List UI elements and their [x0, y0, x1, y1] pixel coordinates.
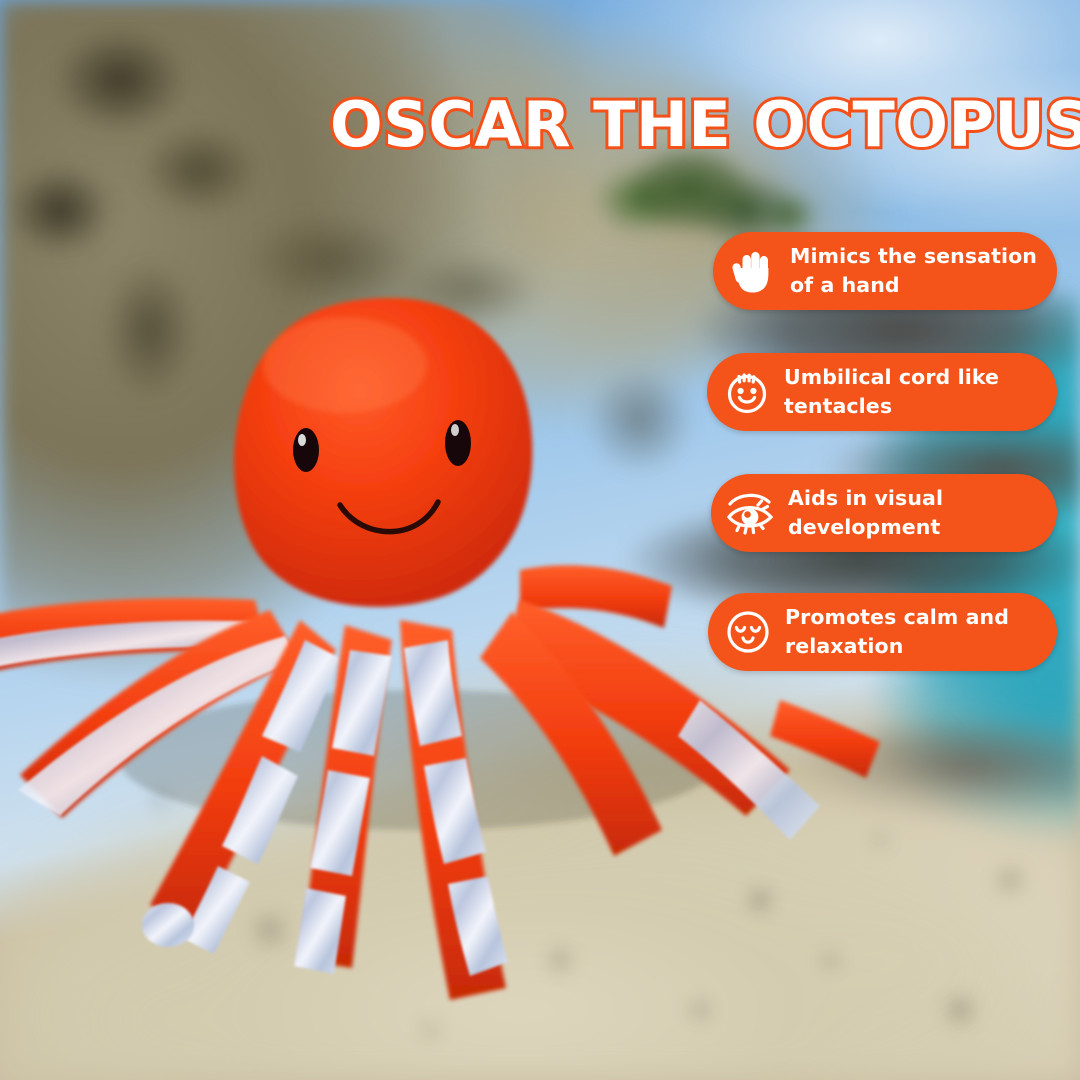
feature-badge-hand-label: Mimics the sensation of a hand: [790, 242, 1037, 300]
feature-line-1: Umbilical cord like: [784, 365, 999, 389]
feature-line-2: development: [788, 513, 943, 542]
feature-badge-calm-label: Promotes calm and relaxation: [785, 603, 1009, 661]
feature-line-1: Mimics the sensation: [790, 244, 1037, 268]
calm-face-icon: [719, 603, 777, 661]
feature-badge-hand[interactable]: Mimics the sensation of a hand: [713, 232, 1057, 310]
feature-badge-visual-label: Aids in visual development: [788, 484, 943, 542]
feature-badge-list: Mimics the sensation of a hand: [0, 0, 1080, 1080]
baby-face-icon: [718, 363, 776, 421]
feature-line-1: Aids in visual: [788, 486, 943, 510]
hand-icon: [724, 242, 782, 300]
feature-badge-visual[interactable]: Aids in visual development: [711, 474, 1057, 552]
feature-line-2: of a hand: [790, 271, 1037, 300]
feature-line-2: tentacles: [784, 392, 999, 421]
feature-line-2: relaxation: [785, 632, 1009, 661]
feature-badge-umbilical[interactable]: Umbilical cord like tentacles: [707, 353, 1057, 431]
eye-icon: [722, 484, 780, 542]
feature-badge-umbilical-label: Umbilical cord like tentacles: [784, 363, 999, 421]
feature-badge-calm[interactable]: Promotes calm and relaxation: [708, 593, 1057, 671]
product-poster: OSCAR THE OCTOPUS Mimics the sensation o: [0, 0, 1080, 1080]
feature-line-1: Promotes calm and: [785, 605, 1009, 629]
